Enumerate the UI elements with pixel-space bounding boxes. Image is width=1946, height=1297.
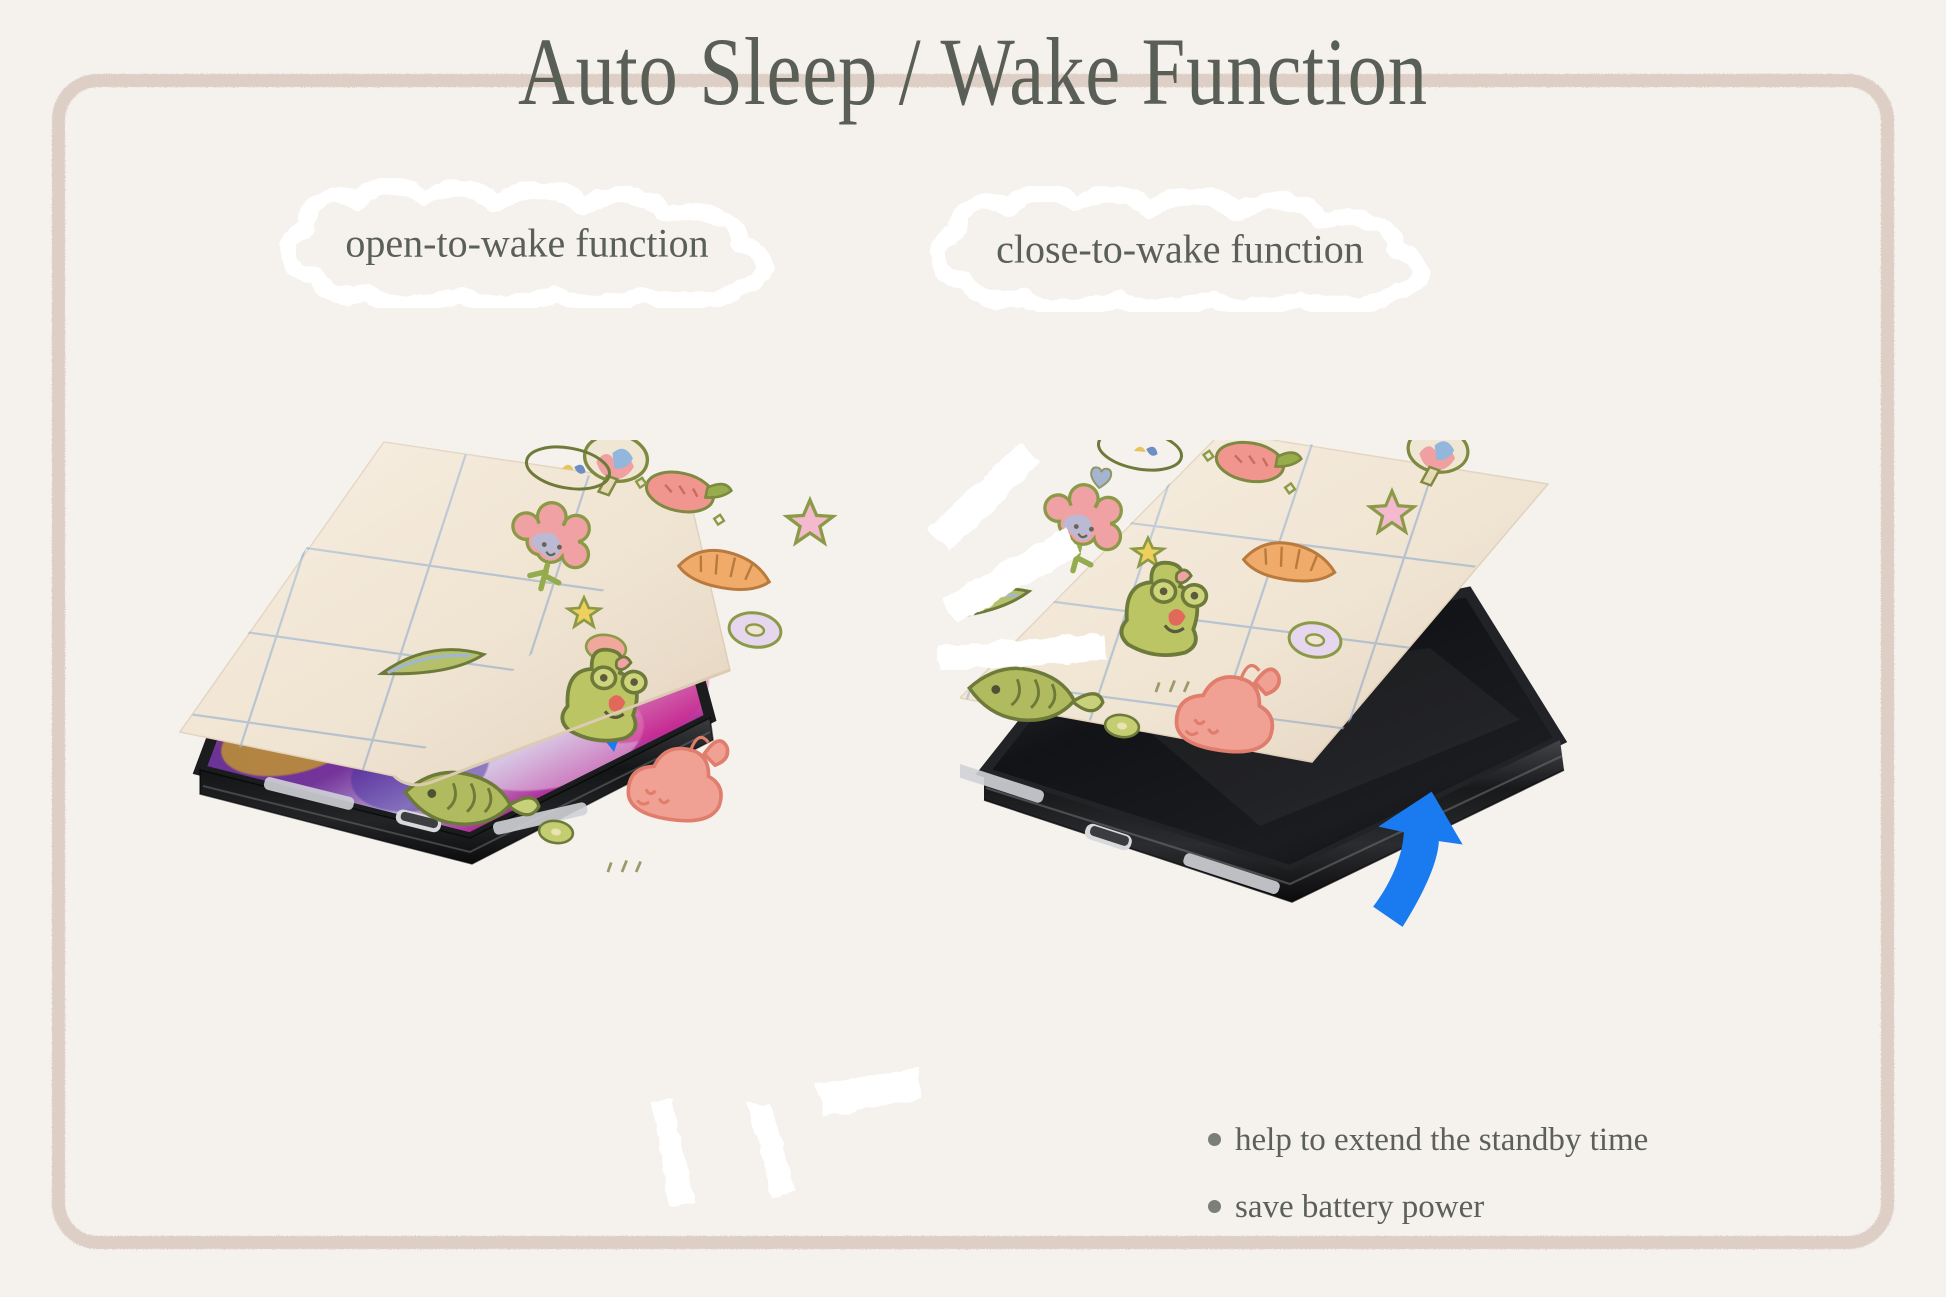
bullet-dot-icon xyxy=(1208,1200,1221,1213)
speech-bubble-label: close-to-wake function xyxy=(920,226,1440,273)
motion-streaks-bottom xyxy=(620,1055,930,1245)
case-cover-left xyxy=(170,440,910,1060)
page-title: Auto Sleep / Wake Function xyxy=(175,24,1771,120)
list-item: help to extend the standby time xyxy=(1208,1112,1648,1169)
sparkle-motif-icon xyxy=(608,857,641,876)
benefit-text: help to extend the standby time xyxy=(1235,1122,1648,1158)
benefits-list: help to extend the standby time save bat… xyxy=(1208,1112,1648,1246)
star-motif-icon xyxy=(787,500,833,543)
rabbit-motif-icon xyxy=(625,728,729,826)
bullet-dot-icon xyxy=(1208,1133,1221,1146)
donut-motif-icon xyxy=(727,610,783,651)
speech-bubble-label: open-to-wake function xyxy=(272,220,782,267)
list-item: save battery power xyxy=(1208,1179,1648,1236)
left-panel-open-to-wake xyxy=(170,440,910,1060)
pea-motif-icon xyxy=(538,819,575,846)
speech-bubble-close-to-wake: close-to-wake function xyxy=(920,186,1440,312)
motion-streaks-center xyxy=(915,420,1145,670)
speech-bubble-open-to-wake: open-to-wake function xyxy=(272,178,782,308)
benefit-text: save battery power xyxy=(1235,1189,1484,1225)
